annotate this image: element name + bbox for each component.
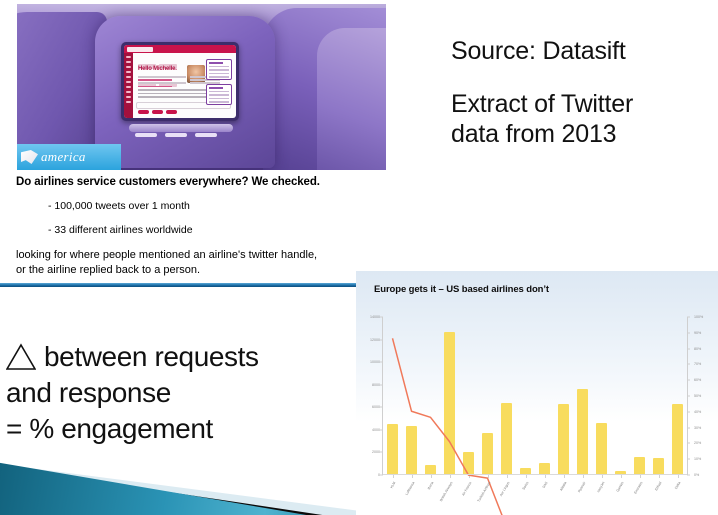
y-axis-right-tick: 70% [694,362,701,366]
x-axis-tick-label: Alitalia [559,481,567,492]
x-axis-tick-label: Delta [674,481,681,490]
extract-line-2: data from 2013 [451,119,711,150]
x-axis-label-slot: British Airways [440,479,459,515]
x-axis-tick-label: easyJet [596,481,605,493]
virgin-america-logo: america [17,144,121,170]
x-axis-label-slot: Iberia [421,479,440,515]
x-axis-label-slot: Lufthansa [402,479,421,515]
x-axis-tick-label: Ryanair [577,481,586,493]
screen-greeting: Hello Michelle. [138,66,177,72]
x-axis-tick-label: Iberia [426,481,434,490]
chart-bar [672,404,682,475]
body-heading: Do airlines service customers everywhere… [16,176,388,188]
engagement-text-1: between requests [44,341,259,372]
screen-side-card-1 [206,59,232,80]
x-axis-tick-label: SAS [541,481,548,489]
x-axis-baseline [383,474,687,475]
y-axis-right-tick: 0% [694,473,699,477]
x-axis-label-slot: Qantas [611,479,630,515]
bar-slot [668,317,687,475]
chart-bar [444,332,454,475]
y-axis-right-tick: 90% [694,331,701,335]
chart-title: Europe gets it – US based airlines don’t [374,284,549,295]
y-axis-left-tick: 8000 [372,383,380,387]
chart-plot-wrapper: 02000400060008000100001200014000 0%10%20… [356,311,718,515]
chart-bar [558,404,568,475]
seat-armrest-controls [129,124,233,132]
engagement-definition-block: between requests and response = % engage… [6,339,354,446]
x-axis-tick-label: British Airways [438,481,452,502]
x-axis-label-slot: Air France [459,479,478,515]
x-axis-tick-label: Swiss [521,481,529,491]
bar-slot [459,317,478,475]
bar-slot [497,317,516,475]
chart-bar [501,403,511,475]
y-axis-right-tick: 30% [694,426,701,430]
bar-slot [383,317,402,475]
virgin-america-wordmark: america [41,149,86,165]
y-axis-right-tick: 100% [694,315,703,319]
extract-line-1: Extract of Twitter [451,89,711,120]
bar-slot [535,317,554,475]
bar-slot [440,317,459,475]
x-axis-tick-label: Air France [461,481,472,497]
y-axis-left-labels: 02000400060008000100001200014000 [356,317,382,475]
bar-slot [516,317,535,475]
source-text-block: Source: Datasift Extract of Twitter data… [451,36,711,150]
chart-bar [387,424,397,475]
list-item: - 33 different airlines worldwide [48,224,388,236]
chart-bar [463,452,473,475]
x-axis-label-slot: easyJet [592,479,611,515]
bar-slot [630,317,649,475]
x-axis-label-slot: Emirates [630,479,649,515]
x-axis-label-slot: Delta [668,479,687,515]
triangle-delta-icon [6,343,36,370]
x-axis-label-slot: Ryanair [573,479,592,515]
screen-brand-logo-icon [127,47,153,52]
x-axis-tick-label: Emirates [633,481,643,495]
body-bullet-list: - 100,000 tweets over 1 month - 33 diffe… [16,200,388,236]
x-axis-label-slot: Aer Lingus [497,479,516,515]
body-copy-block: Do airlines service customers everywhere… [16,176,388,277]
chart-bar [482,433,492,475]
engagement-line-3: = % engagement [6,411,354,447]
list-item: - 100,000 tweets over 1 month [48,200,388,212]
y-axis-left-tick: 4000 [372,428,380,432]
x-axis-label-slot: Alitalia [554,479,573,515]
body-note: looking for where people mentioned an ai… [16,248,388,277]
x-axis-label-slot: Etihad [649,479,668,515]
bar-slot [611,317,630,475]
body-note-line-2: or the airline replied back to a person. [16,263,388,278]
seatback-screen-bezel: Hello Michelle. [121,42,239,121]
y-axis-left-tick: 10000 [370,360,380,364]
x-axis-tick-label: Aer Lingus [498,481,510,497]
x-axis-tick-label: Etihad [654,481,662,491]
y-axis-right-line [687,317,688,475]
screen-side-card-2 [206,84,232,105]
x-axis-label-slot: KLM [383,479,402,515]
x-axis-label-slot: Turkish Airlines [478,479,497,515]
x-axis-tick-label: Turkish Airlines [476,481,491,503]
bar-slot [573,317,592,475]
y-axis-left-tick: 12000 [370,338,380,342]
screen-text-col-1 [138,76,186,89]
bar-slot [421,317,440,475]
bar-series [383,317,687,475]
virgin-america-mark-icon [21,150,38,164]
engagement-line-2: and response [6,375,354,411]
y-axis-right-tick: 60% [694,378,701,382]
slide-canvas: Hello Michelle. america Source: Datasift… [0,0,718,515]
plot-area [383,317,687,475]
chart-panel: Europe gets it – US based airlines don’t… [356,271,718,515]
y-axis-left-tick: 2000 [372,450,380,454]
chart-bar [577,389,587,475]
y-axis-right-labels: 0%10%20%30%40%50%60%70%80%90%100% [688,317,718,475]
chart-bar [406,426,416,475]
y-axis-right-tick: 40% [694,410,701,414]
bar-slot [478,317,497,475]
x-axis-tick-label: KLM [389,481,396,489]
horizontal-divider [0,283,358,287]
body-note-line-1: looking for where people mentioned an ai… [16,248,388,263]
screen-tabs [138,56,198,61]
bar-slot [402,317,421,475]
seatback-screen: Hello Michelle. [124,45,236,118]
y-axis-left-tick: 6000 [372,405,380,409]
y-axis-right-tick: 80% [694,347,701,351]
screen-side-rail [124,53,133,118]
decorative-banner [0,453,372,515]
x-axis-label-slot: Swiss [516,479,535,515]
cabin-photo: Hello Michelle. america [17,4,386,170]
x-axis-labels: KLMLufthansaIberiaBritish AirwaysAir Fra… [383,479,687,515]
bar-slot [649,317,668,475]
chart-bar [596,423,606,475]
chart-bar [653,458,663,475]
x-axis-tick-label: Lufthansa [404,481,415,496]
y-axis-right-tick: 10% [694,457,701,461]
y-axis-right-tick: 20% [694,441,701,445]
source-line: Source: Datasift [451,36,711,67]
engagement-line-1: between requests [6,339,354,375]
bar-slot [554,317,573,475]
x-axis-tick-label: Qantas [615,481,624,492]
y-axis-right-tick: 50% [694,394,701,398]
screen-paragraph [138,89,216,100]
chart-bar [634,457,644,475]
y-axis-left-tick: 14000 [370,315,380,319]
bar-slot [592,317,611,475]
seat-far [317,28,386,170]
spacer [451,67,711,89]
x-axis-label-slot: SAS [535,479,554,515]
